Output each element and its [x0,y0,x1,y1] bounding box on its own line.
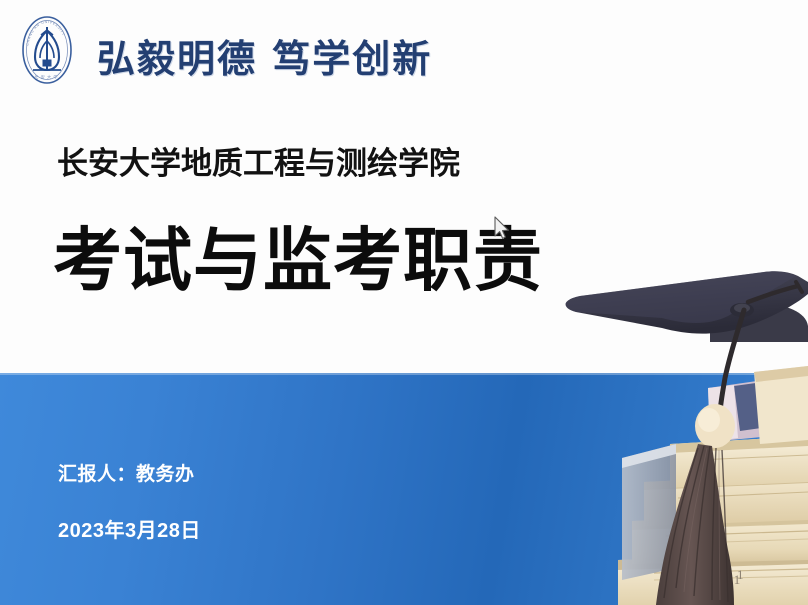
presenter-label: 汇报人：教务办 [58,459,195,486]
slide-title: 考试与监考职责 [53,225,543,297]
svg-text:长安大学: 长安大学 [34,74,60,81]
presentation-slide: CHANG'AN UNIVERSITY 长安大学 弘毅明德 笃学创新 长安大学地… [0,0,808,605]
university-seal-icon: CHANG'AN UNIVERSITY 长安大学 [20,14,74,86]
university-motto: 弘毅明德 笃学创新 [97,28,432,83]
institution-name: 长安大学地质工程与测绘学院 [57,138,460,183]
page-number: 1 [737,567,744,583]
date-label: 2023年3月28日 [58,514,201,543]
graduation-cap-icon: 1 [558,268,808,605]
